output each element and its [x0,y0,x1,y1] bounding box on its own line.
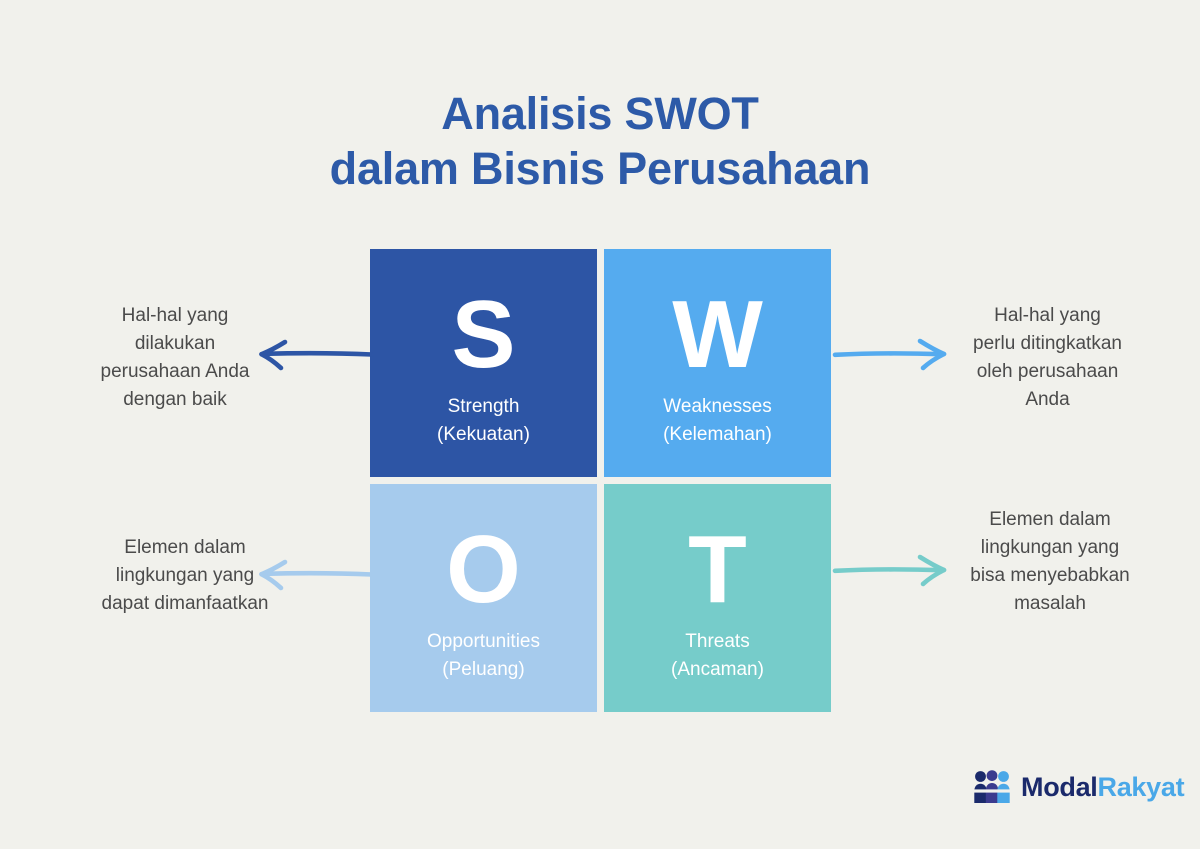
brand-logo-text: ModalRakyat [1021,772,1184,803]
page-title-line-1: Analisis SWOT [0,86,1200,141]
annotation-weaknesses-note: Hal-hal yang perlu ditingkatkan oleh per… [950,302,1145,414]
swot-label-id-strength: (Kekuatan) [437,421,530,449]
swot-label-en-weaknesses: Weaknesses [663,393,772,421]
swot-labels-opportunities: Opportunities (Peluang) [427,628,540,683]
swot-quadrant-weaknesses: W Weaknesses (Kelemahan) [604,249,831,477]
brand-logo-text-secondary: Rakyat [1098,772,1185,802]
arrow-left-opportunities-icon [248,554,374,596]
brand-logo: ModalRakyat [972,770,1184,804]
three-people-icon [972,770,1012,804]
swot-quadrant-strength: S Strength (Kekuatan) [370,249,597,477]
swot-letter-strength: S [451,283,515,387]
annotation-threats-line-2: lingkungan yang [950,534,1150,562]
arrow-left-strength-icon [248,334,374,376]
swot-label-id-opportunities: (Peluang) [427,656,540,684]
swot-label-en-threats: Threats [671,628,764,656]
swot-letter-weaknesses: W [672,283,763,387]
page-title-line-2: dalam Bisnis Perusahaan [0,141,1200,196]
annotation-strength-line-4: dengan baik [60,386,290,414]
swot-labels-threats: Threats (Ancaman) [671,628,764,683]
swot-label-en-strength: Strength [437,393,530,421]
swot-letter-opportunities: O [446,518,521,622]
annotation-weaknesses-line-2: perlu ditingkatkan [950,330,1145,358]
arrow-right-weaknesses-icon [832,334,954,376]
annotation-strength-line-1: Hal-hal yang [60,302,290,330]
annotation-threats-line-4: masalah [950,590,1150,618]
swot-labels-weaknesses: Weaknesses (Kelemahan) [663,393,772,448]
swot-quadrant-opportunities: O Opportunities (Peluang) [370,484,597,712]
annotation-weaknesses-line-3: oleh perusahaan [950,358,1145,386]
swot-grid: S Strength (Kekuatan) W Weaknesses (Kele… [370,249,831,712]
swot-label-id-weaknesses: (Kelemahan) [663,421,772,449]
swot-letter-threats: T [688,518,747,622]
swot-quadrant-threats: T Threats (Ancaman) [604,484,831,712]
annotation-weaknesses-line-1: Hal-hal yang [950,302,1145,330]
arrow-right-threats-icon [832,550,954,592]
swot-label-id-threats: (Ancaman) [671,656,764,684]
brand-logo-text-primary: Modal [1021,772,1098,802]
annotation-threats-note: Elemen dalam lingkungan yang bisa menyeb… [950,506,1150,618]
swot-label-en-opportunities: Opportunities [427,628,540,656]
page-title: Analisis SWOT dalam Bisnis Perusahaan [0,86,1200,197]
annotation-weaknesses-line-4: Anda [950,386,1145,414]
annotation-threats-line-1: Elemen dalam [950,506,1150,534]
infographic-canvas: Analisis SWOT dalam Bisnis Perusahaan S … [0,0,1200,849]
swot-labels-strength: Strength (Kekuatan) [437,393,530,448]
annotation-threats-line-3: bisa menyebabkan [950,562,1150,590]
